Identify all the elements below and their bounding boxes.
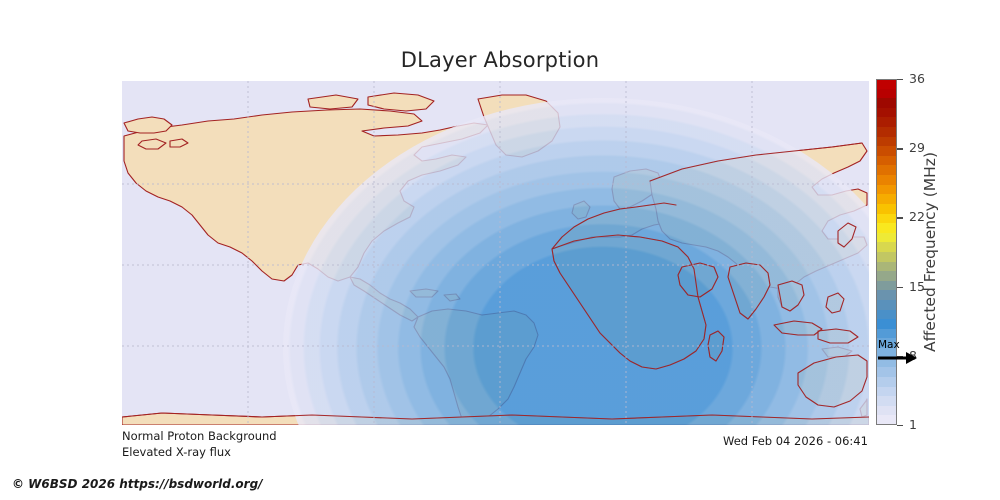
colorbar-tick-mark [897, 79, 903, 80]
colorbar-axis-title: Affected Frequency (MHz) [919, 79, 941, 425]
note-proton-background: Normal Proton Background [122, 429, 277, 443]
colorbar-segment [876, 377, 897, 387]
colorbar-segment [876, 165, 897, 175]
colorbar-segment [876, 127, 897, 137]
colorbar-segment [876, 98, 897, 108]
page-title: DLayer Absorption [0, 48, 1000, 72]
colorbar-tick-label: 1 [909, 417, 917, 432]
copyright-notice: © W6BSD 2026 https://bsdworld.org/ [12, 477, 263, 491]
colorbar-segment [876, 146, 897, 156]
colorbar-segment [876, 281, 897, 291]
chart-page: DLayer Absorption [0, 0, 1000, 500]
colorbar-segment [876, 89, 897, 99]
colorbar-segment [876, 117, 897, 127]
colorbar-segment [876, 175, 897, 185]
colorbar-segment [876, 300, 897, 310]
colorbar-segment [876, 396, 897, 406]
colorbar-segment [876, 319, 897, 329]
right-arrow-icon [877, 351, 917, 365]
colorbar-segment [876, 271, 897, 281]
colorbar-segment [876, 367, 897, 377]
colorbar-segment [876, 242, 897, 252]
note-xray-flux: Elevated X-ray flux [122, 445, 231, 459]
colorbar-segment [876, 387, 897, 397]
max-annotation: Max [877, 341, 921, 367]
colorbar-segment [876, 185, 897, 195]
colorbar-segment [876, 79, 897, 89]
max-label: Max [878, 339, 900, 351]
colorbar-segment [876, 290, 897, 300]
world-map-svg [122, 81, 869, 425]
colorbar-tick-mark [897, 287, 903, 288]
colorbar-label-text: Affected Frequency (MHz) [921, 152, 939, 352]
colorbar-segment [876, 262, 897, 272]
colorbar-gradient-strip [876, 79, 897, 425]
map-plot-area [122, 81, 869, 425]
colorbar-tick-mark [897, 425, 903, 426]
colorbar-segment [876, 329, 897, 339]
colorbar-segment [876, 415, 897, 425]
colorbar-segment [876, 137, 897, 147]
colorbar-segment [876, 108, 897, 118]
timestamp: Wed Feb 04 2026 - 06:41 [723, 434, 868, 448]
colorbar-tick-mark [897, 217, 903, 218]
colorbar-segment [876, 194, 897, 204]
colorbar-segment [876, 233, 897, 243]
colorbar-segment [876, 310, 897, 320]
colorbar-segment [876, 406, 897, 416]
colorbar-segment [876, 204, 897, 214]
colorbar-segment [876, 252, 897, 262]
colorbar-tick-mark [897, 148, 903, 149]
colorbar [876, 79, 897, 425]
colorbar-segment [876, 223, 897, 233]
colorbar-segment [876, 214, 897, 224]
colorbar-segment [876, 156, 897, 166]
